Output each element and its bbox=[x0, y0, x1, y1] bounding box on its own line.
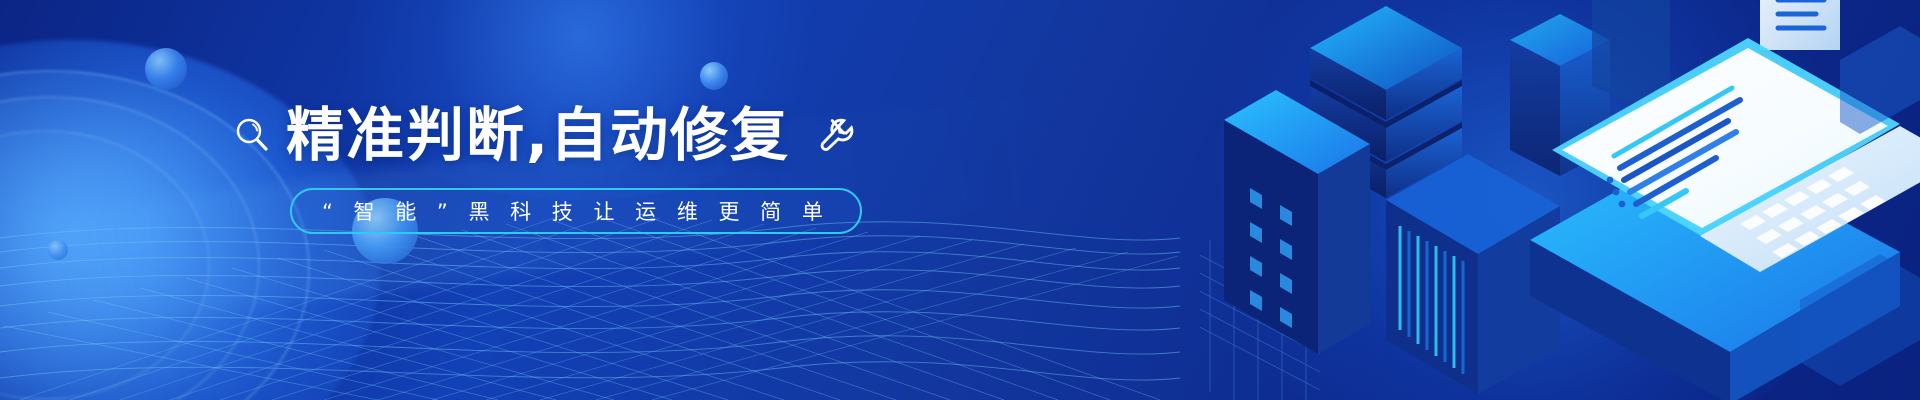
headline-group: 精准判断,自动修复 bbox=[232, 106, 860, 164]
magnifier-icon bbox=[232, 115, 272, 155]
hero-banner: 精准判断,自动修复 “ 智 能 ” 黑 科 技 让 运 维 更 简 单 bbox=[0, 0, 1920, 400]
subtitle-text: “ 智 能 ” 黑 科 技 让 运 维 更 简 单 bbox=[322, 196, 830, 226]
isometric-city-laptop-illustration bbox=[1200, 0, 1920, 400]
wrench-icon bbox=[814, 112, 860, 158]
banner-content: 精准判断,自动修复 “ 智 能 ” 黑 科 技 让 运 维 更 简 单 bbox=[0, 0, 1000, 400]
subtitle-badge: “ 智 能 ” 黑 科 技 让 运 维 更 简 单 bbox=[290, 188, 862, 234]
document-card bbox=[1760, 0, 1840, 50]
page-title: 精准判断,自动修复 bbox=[286, 106, 790, 164]
